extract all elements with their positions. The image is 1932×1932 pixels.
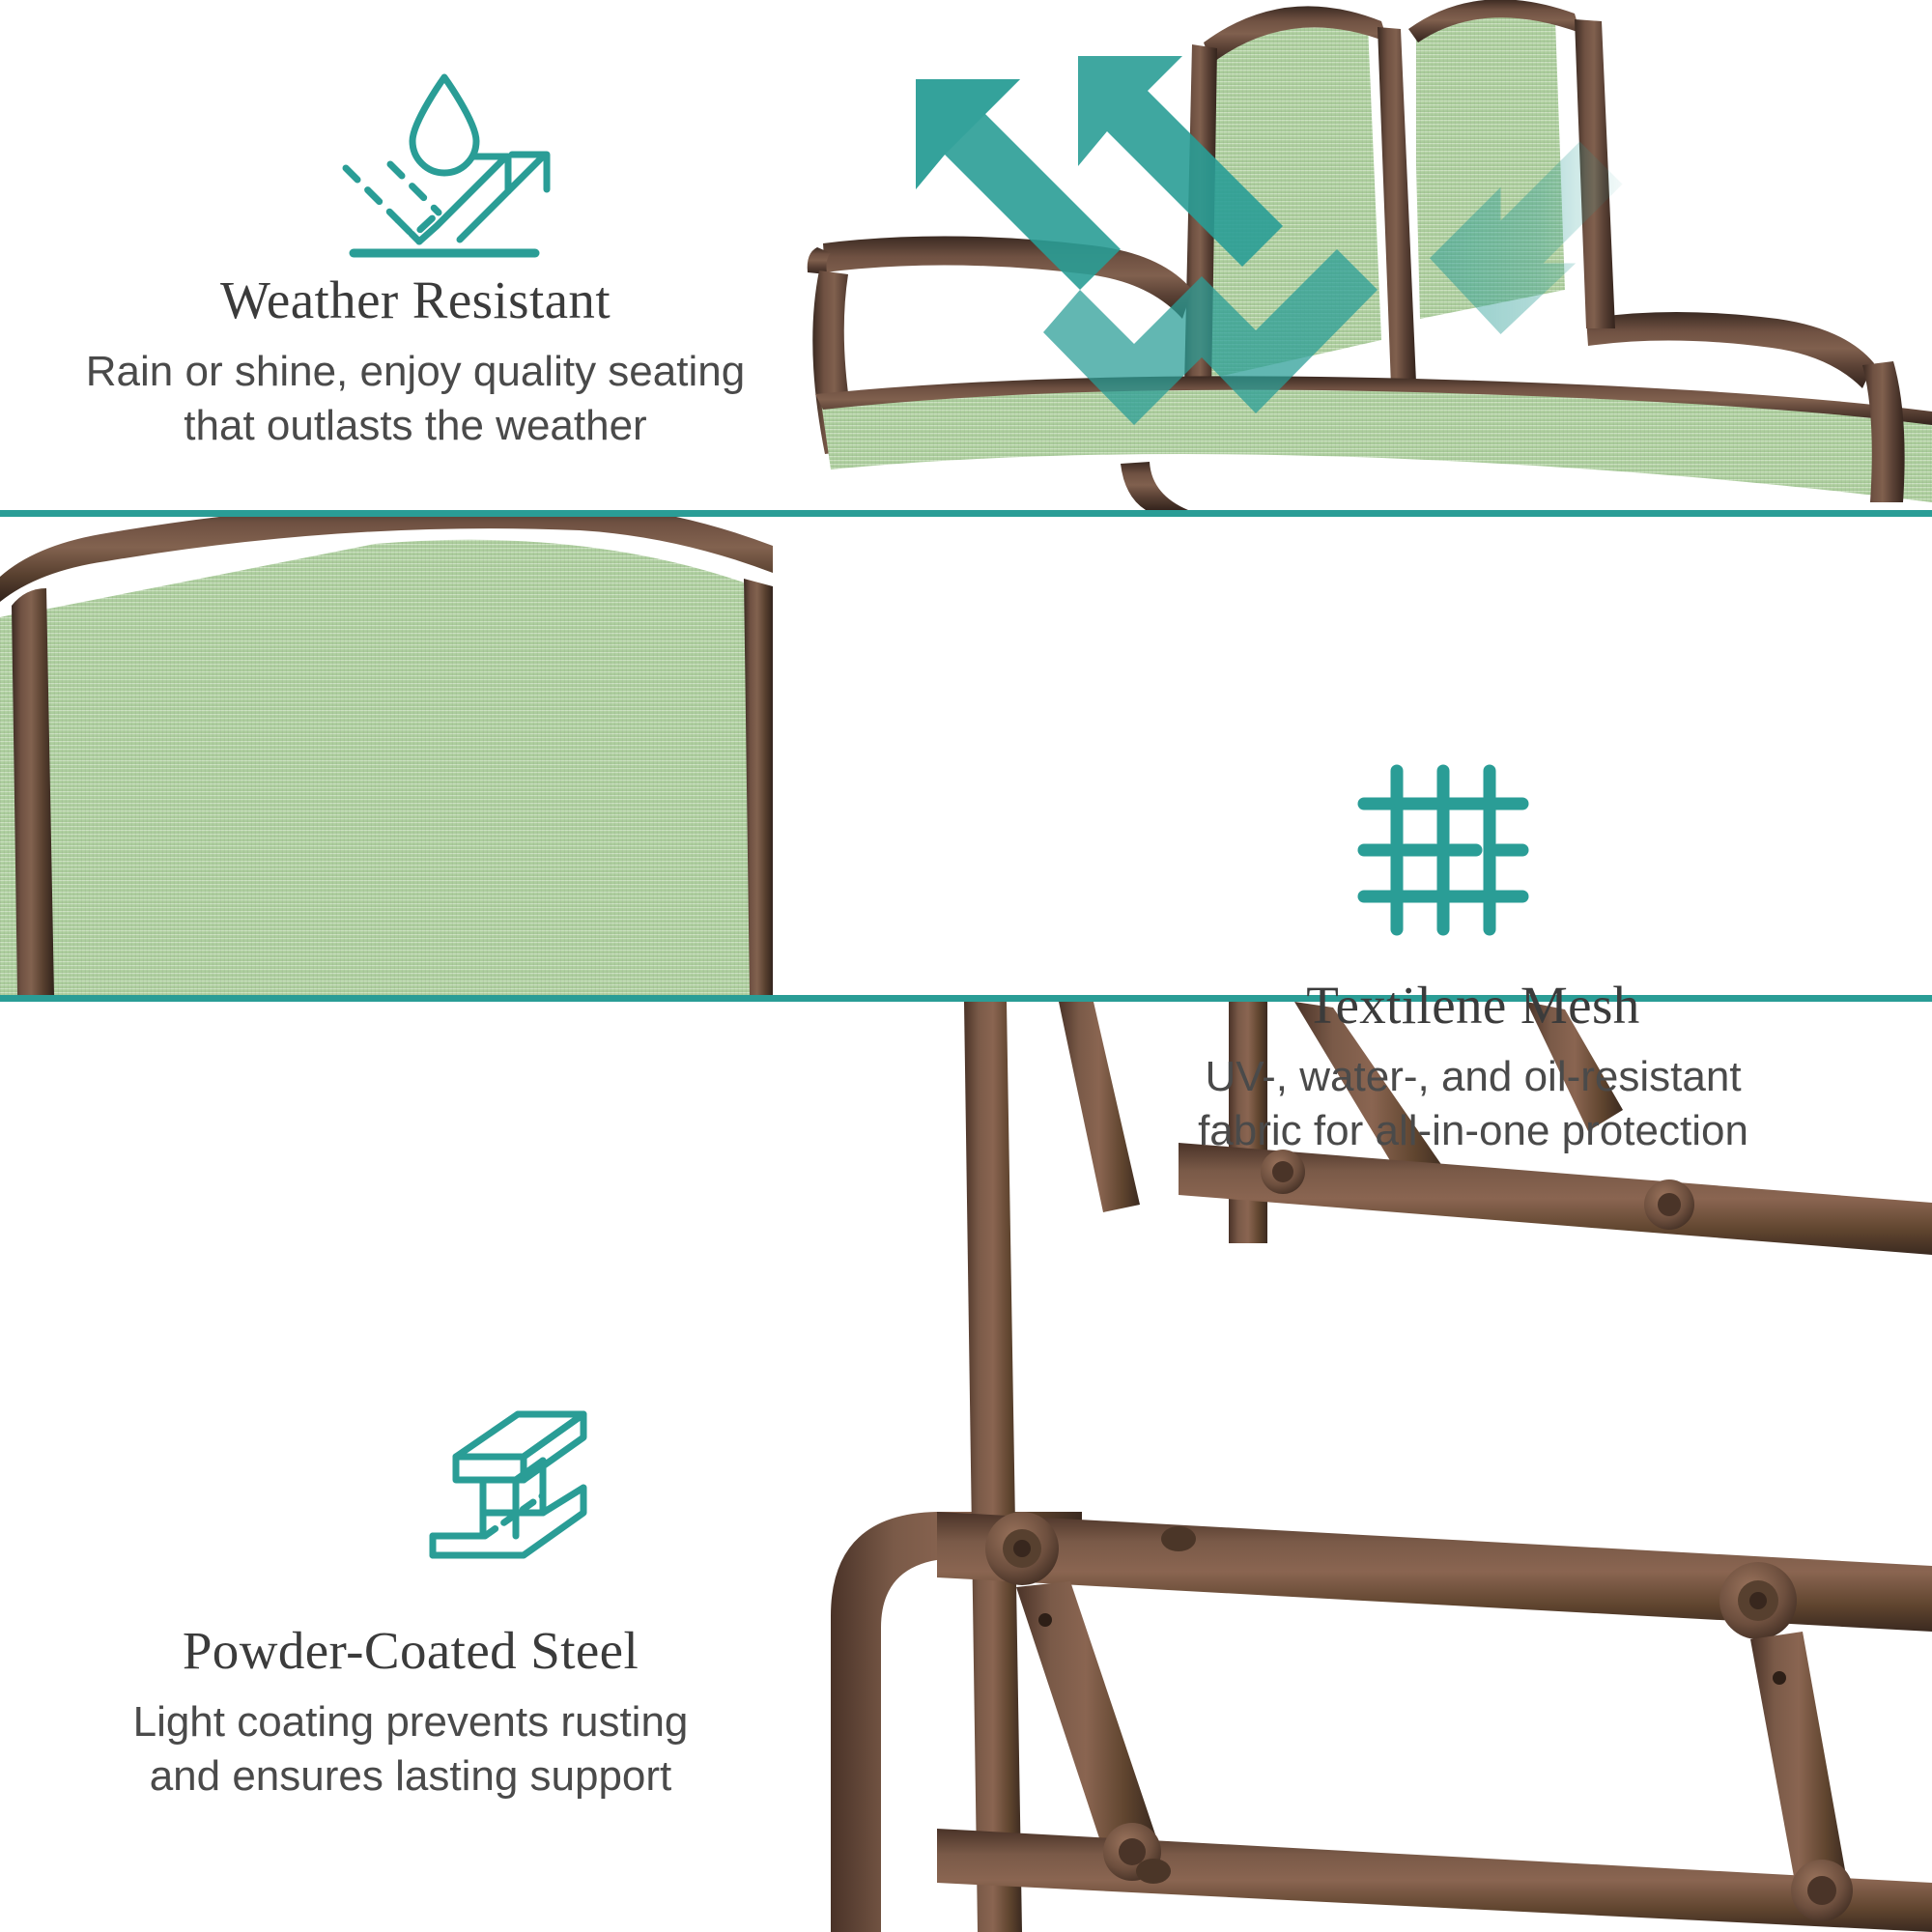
feature-description: Rain or shine, enjoy quality seating tha…	[39, 345, 792, 454]
glider-seat-photo	[802, 0, 1932, 510]
repel-arrow-2	[460, 155, 545, 240]
feature-powder-coated-steel: Powder-Coated Steel Light coating preven…	[43, 1623, 778, 1804]
bolt-stub	[1136, 1859, 1171, 1884]
beam-top-front	[456, 1457, 524, 1480]
seat-cushion	[815, 376, 1932, 502]
feature-description-line: Light coating prevents rusting	[43, 1695, 778, 1749]
feature-description-line: Rain or shine, enjoy quality seating	[39, 345, 792, 399]
feature-textilene-mesh: Textilene Mesh UV-, water-, and oil-resi…	[1082, 978, 1864, 1158]
feature-weather-resistant: Weather Resistant Rain or shine, enjoy q…	[39, 272, 792, 453]
feature-title: Powder-Coated Steel	[43, 1623, 778, 1679]
droplet-shape	[412, 77, 476, 173]
swing-arm-left	[1016, 1581, 1155, 1850]
feature-title: Textilene Mesh	[1082, 978, 1864, 1034]
lower-cross-rail	[937, 1829, 1932, 1932]
feature-description: UV-, water-, and oil-resistant fabric fo…	[1082, 1050, 1864, 1159]
water-drop-repellent-icon	[319, 68, 570, 261]
feature-description-line: fabric for all-in-one protection	[1082, 1104, 1864, 1158]
feature-description-line: UV-, water-, and oil-resistant	[1082, 1050, 1864, 1104]
feature-description-line: that outlasts the weather	[39, 399, 792, 453]
feature-title: Weather Resistant	[39, 272, 792, 328]
steel-i-beam-icon	[415, 1401, 599, 1575]
feature-description-line: and ensures lasting support	[43, 1749, 778, 1804]
woven-mesh-icon	[1356, 763, 1530, 937]
bolt-stub	[1161, 1526, 1196, 1551]
mesh-backrest-closeup-photo	[0, 517, 773, 995]
feature-description: Light coating prevents rusting and ensur…	[43, 1695, 778, 1804]
feature-infographic: Weather Resistant Rain or shine, enjoy q…	[0, 0, 1932, 1932]
seat-support-leg	[1121, 462, 1188, 510]
mesh-fabric	[35, 540, 755, 995]
rain-dashes	[346, 164, 439, 220]
rear-vertical-rail	[964, 1002, 1022, 1932]
swing-arm-right	[1750, 1632, 1847, 1892]
section-divider-top	[0, 510, 1932, 517]
